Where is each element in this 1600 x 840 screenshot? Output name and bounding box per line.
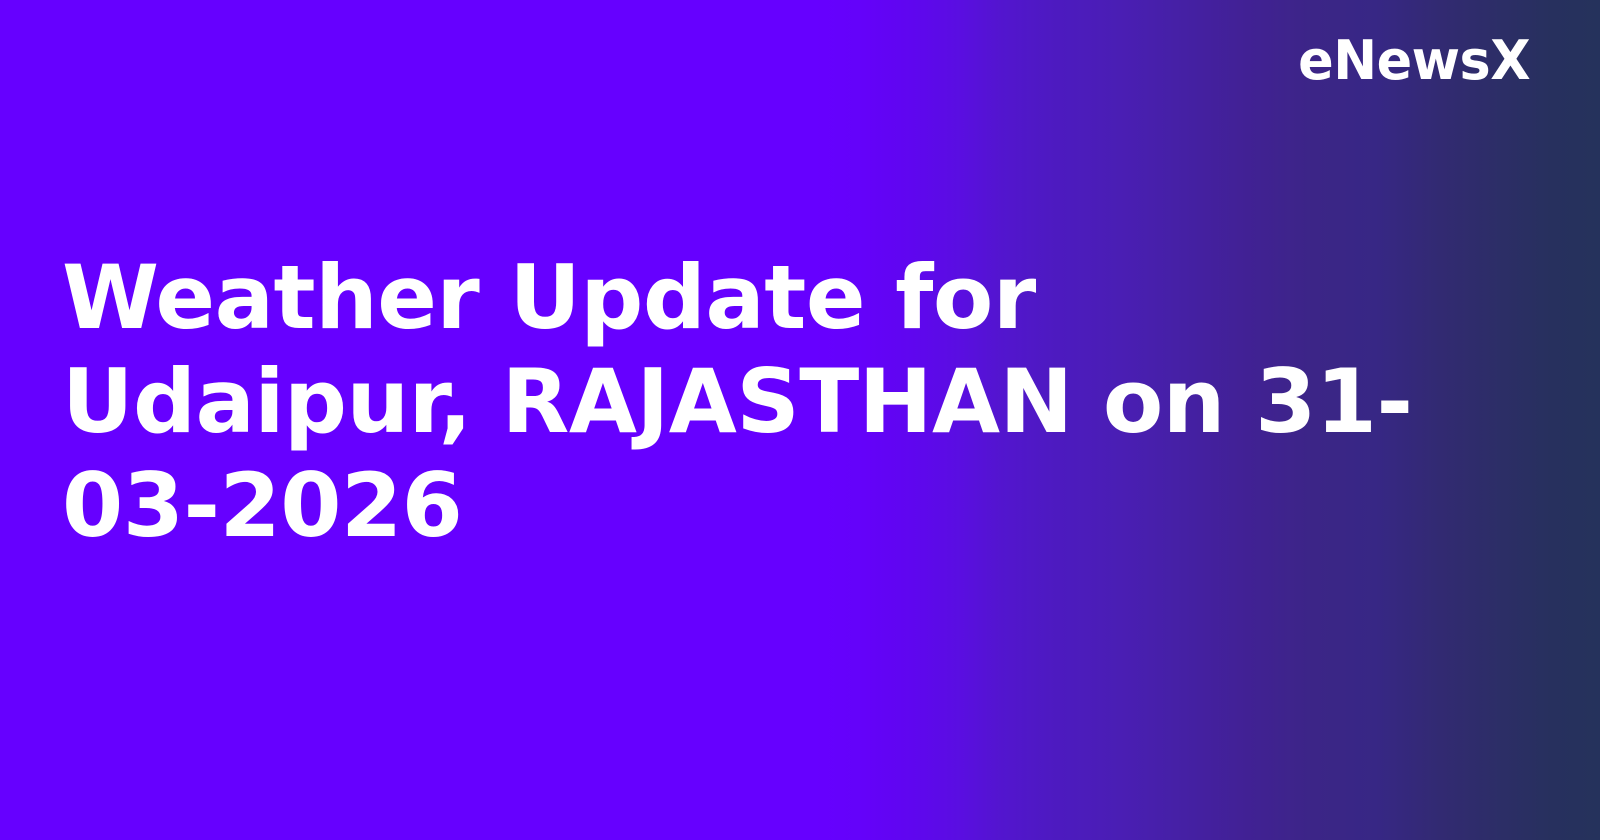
brand-wordmark: eNewsX bbox=[1298, 34, 1530, 88]
headline-container: Weather Update for Udaipur, RAJASTHAN on… bbox=[62, 246, 1432, 558]
page-title: Weather Update for Udaipur, RAJASTHAN on… bbox=[62, 246, 1432, 558]
weather-banner: eNewsX Weather Update for Udaipur, RAJAS… bbox=[0, 0, 1600, 840]
brand-logo[interactable]: eNewsX bbox=[1291, 34, 1530, 88]
